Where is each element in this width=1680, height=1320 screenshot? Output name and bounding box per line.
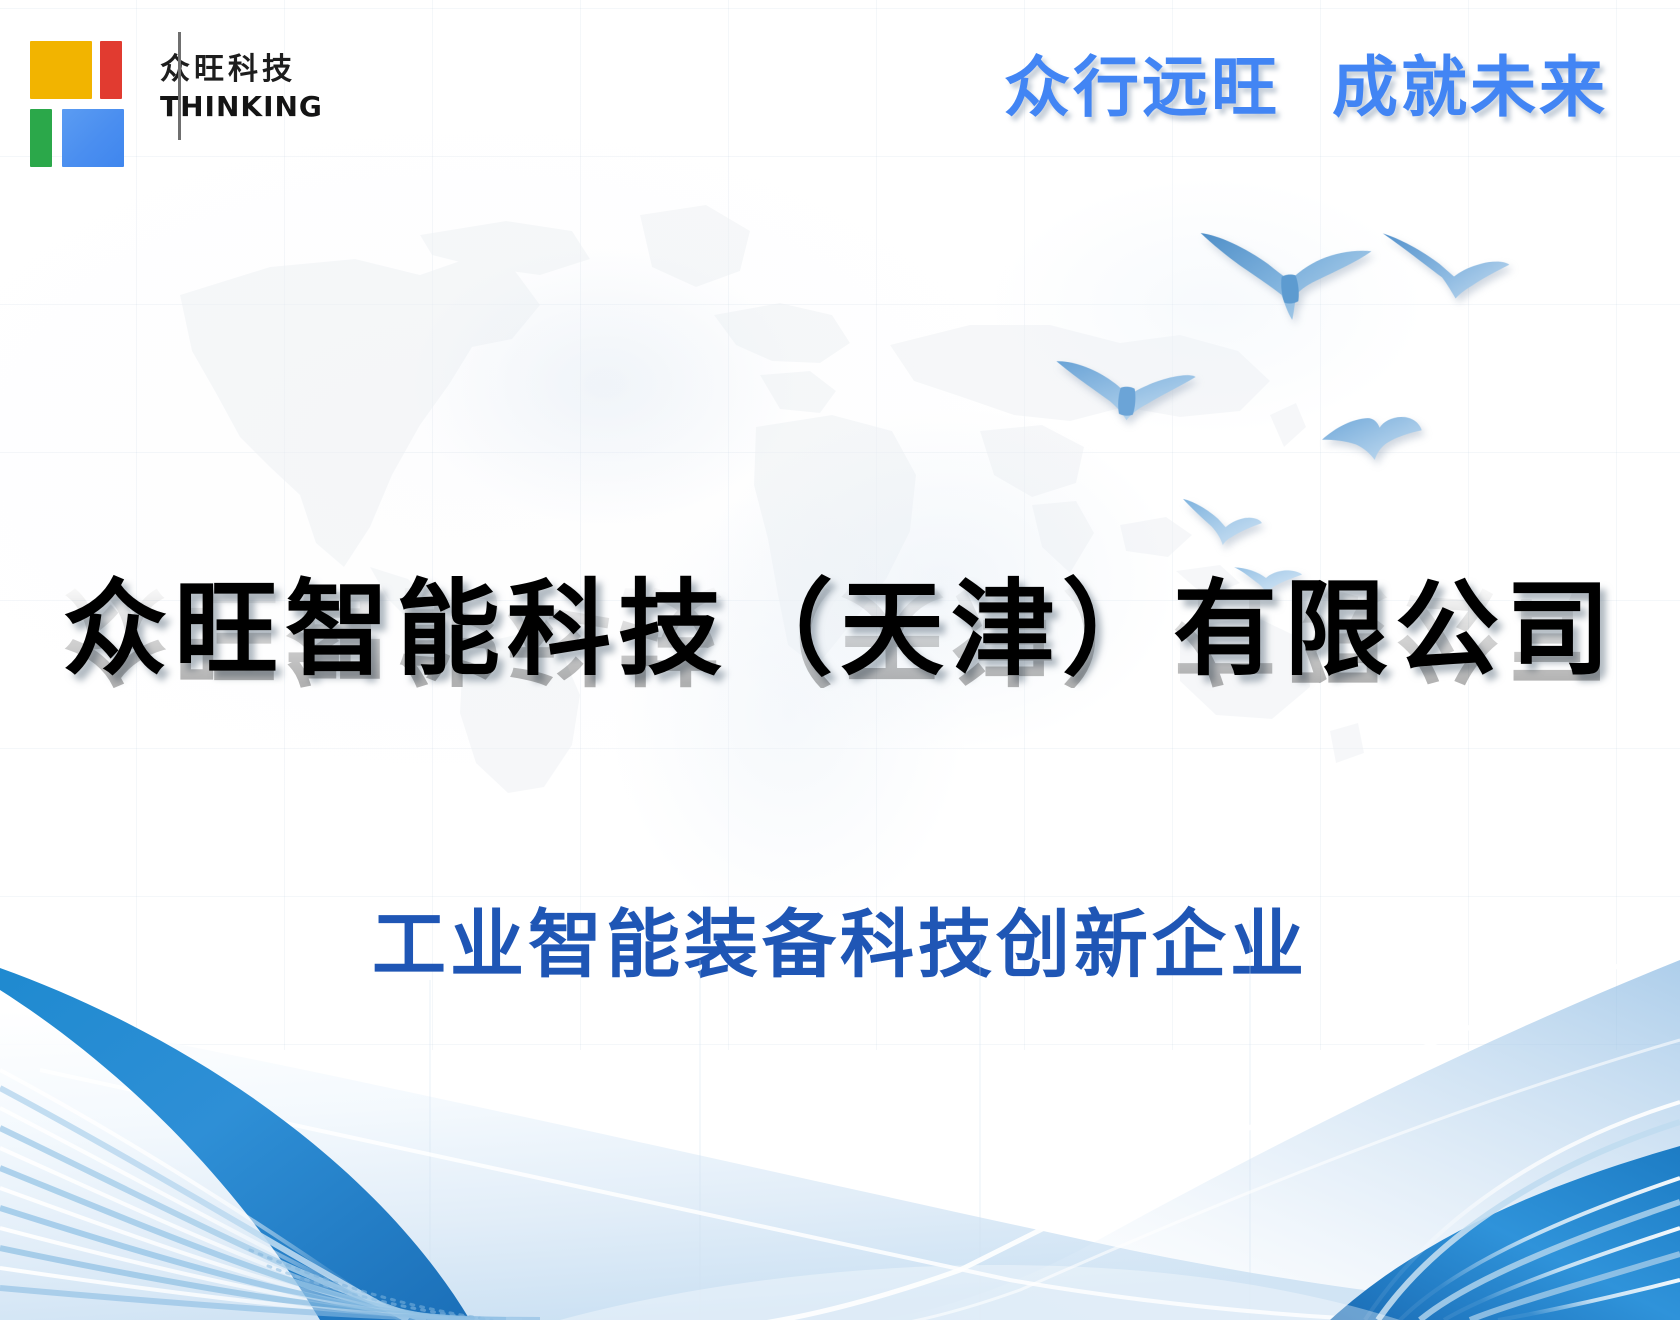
logo-square-yellow (30, 41, 92, 99)
logo-company-cn: 众旺科技 (160, 55, 323, 85)
bottom-wave-decoration (0, 920, 1680, 1320)
company-logo: 众旺科技 THINKING (30, 28, 323, 148)
header-slogan: 众行远旺 成就未来 (1004, 52, 1608, 125)
logo-square-blue (62, 109, 124, 167)
logo-company-en: THINKING (160, 93, 323, 121)
logo-square-green (30, 109, 52, 167)
four-square-logo-icon (30, 33, 130, 143)
page-title-reflection: 众旺智能科技（天津）有限公司 (0, 570, 1680, 688)
background-soft-clouds (0, 150, 1680, 930)
presentation-slide: 众旺科技 THINKING 众行远旺 成就未来 (0, 0, 1680, 1320)
logo-divider (178, 32, 181, 140)
title-block: 众旺智能科技（天津）有限公司 众旺智能科技（天津）有限公司 (0, 575, 1680, 806)
logo-square-red (100, 41, 122, 99)
